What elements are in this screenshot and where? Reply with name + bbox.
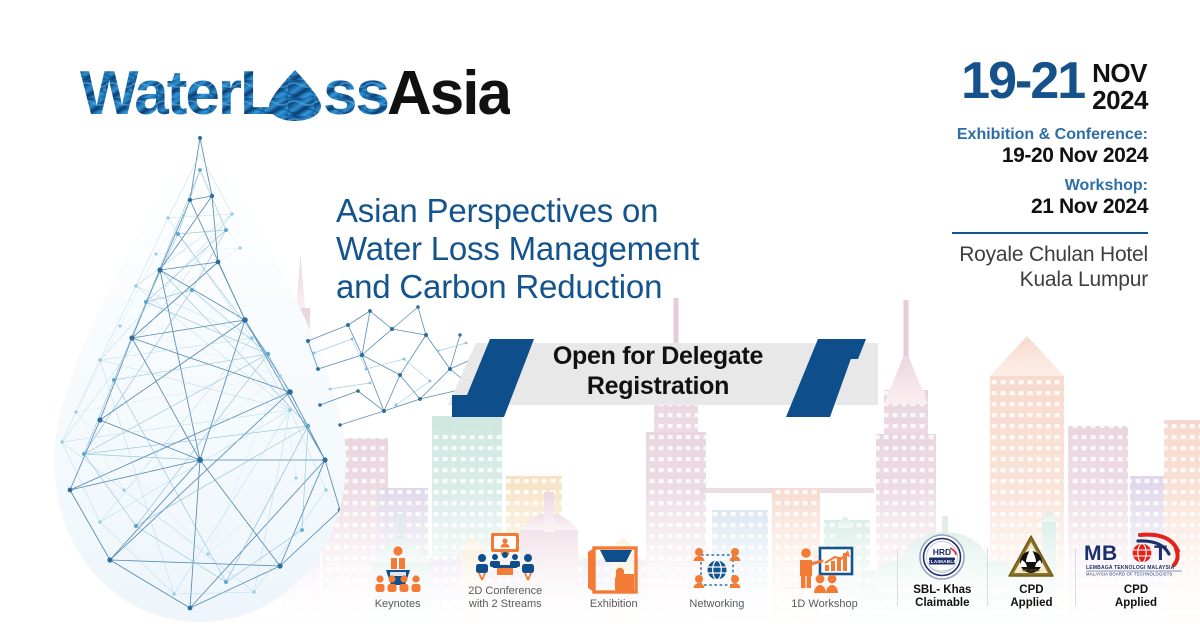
accreditation-caption: CPD Applied: [1115, 584, 1157, 610]
ribbon-line-1: Open for Delegate: [553, 341, 763, 371]
ribbon-label-group: Open for Delegate Registration: [438, 325, 878, 417]
bem-triangle-seal-icon: MALAYSIA: [1007, 532, 1055, 580]
conference-streams-icon: [473, 533, 537, 581]
venue-text: Royale Chulan Hotel Kuala Lumpur: [898, 242, 1148, 292]
features-row: Keynotes: [360, 526, 1190, 610]
date-month: NOV: [1092, 60, 1147, 87]
divider: [952, 232, 1148, 234]
event-banner: WaterL ss Asia Asian Perspectives on Wat…: [0, 0, 1200, 628]
date-year: 2024: [1092, 87, 1148, 114]
accreditation-caption: SBL- Khas Claimable: [913, 584, 971, 610]
networking-globe-icon: [689, 546, 745, 594]
feature-caption: Keynotes: [375, 598, 421, 611]
feature-exhibition[interactable]: Exhibition: [575, 546, 652, 611]
svg-text:MALAYSIA: MALAYSIA: [1023, 569, 1041, 573]
svg-text:HRD: HRD: [933, 547, 951, 557]
svg-text:MB: MB: [1084, 542, 1118, 565]
keynote-podium-icon: [371, 546, 425, 594]
accreditation-caption: CPD Applied: [1010, 584, 1052, 610]
mbot-subtitle-ms: LEMBAGA TEKNOLOGI MALAYSIA: [1086, 565, 1175, 571]
headline-date: 19-21 NOV 2024: [898, 58, 1148, 113]
svg-text:T: T: [1154, 542, 1167, 565]
logo-asia-text: Asia: [387, 62, 510, 128]
exhibition-label: Exhibition & Conference:: [898, 126, 1148, 144]
mbot-logo-icon: MB T LEMBAGA TEKNOLOGI MALAYSIA MALAYSIA…: [1082, 532, 1190, 580]
date-month-year: NOV 2024: [1092, 58, 1148, 113]
ribbon-line-2: Registration: [587, 371, 729, 401]
divider: [897, 548, 898, 606]
accreditation-bem[interactable]: MALAYSIA CPD Applied: [994, 532, 1069, 610]
workshop-date: 21 Nov 2024: [898, 195, 1148, 219]
feature-caption: 1D Workshop: [791, 598, 857, 611]
divider: [1075, 548, 1076, 606]
feature-networking[interactable]: Networking: [676, 546, 759, 611]
feature-caption: Networking: [689, 598, 744, 611]
exhibition-dates: 19-20 Nov 2024: [898, 144, 1148, 168]
logo-ss-text: [320, 62, 390, 128]
water-droplet-network-graphic: [40, 130, 360, 628]
feature-workshop[interactable]: 1D Workshop: [781, 546, 867, 611]
accreditation-mbot[interactable]: MB T LEMBAGA TEKNOLOGI MALAYSIA MALAYSIA…: [1082, 532, 1190, 610]
hrd-corp-seal-icon: HRD CLAIMABLE: [919, 532, 965, 580]
date-range: 19-21: [961, 58, 1084, 106]
page-title: Asian Perspectives on Water Loss Managem…: [336, 192, 699, 306]
divider: [987, 548, 988, 606]
mbot-subtitle-en: MALAYSIA BOARD OF TECHNOLOGISTS: [1086, 572, 1173, 577]
workshop-label: Workshop:: [898, 177, 1148, 195]
exhibition-booth-icon: [588, 546, 640, 594]
feature-caption: Exhibition: [590, 598, 638, 611]
waterlossasia-logo[interactable]: WaterL ss Asia: [80, 62, 510, 128]
feature-keynotes[interactable]: Keynotes: [360, 546, 435, 611]
logo-water-loss-text: [80, 62, 280, 128]
event-dates-block: 19-21 NOV 2024 Exhibition & Conference: …: [898, 58, 1148, 292]
accreditation-hrd[interactable]: HRD CLAIMABLE SBL- Khas Claimable: [904, 532, 981, 610]
registration-ribbon[interactable]: Open for Delegate Registration: [438, 325, 878, 417]
feature-caption: 2D Conference with 2 Streams: [468, 585, 542, 610]
workshop-presenter-icon: [794, 546, 856, 594]
svg-text:CLAIMABLE: CLAIMABLE: [927, 559, 957, 564]
feature-conference[interactable]: 2D Conference with 2 Streams: [459, 533, 552, 610]
